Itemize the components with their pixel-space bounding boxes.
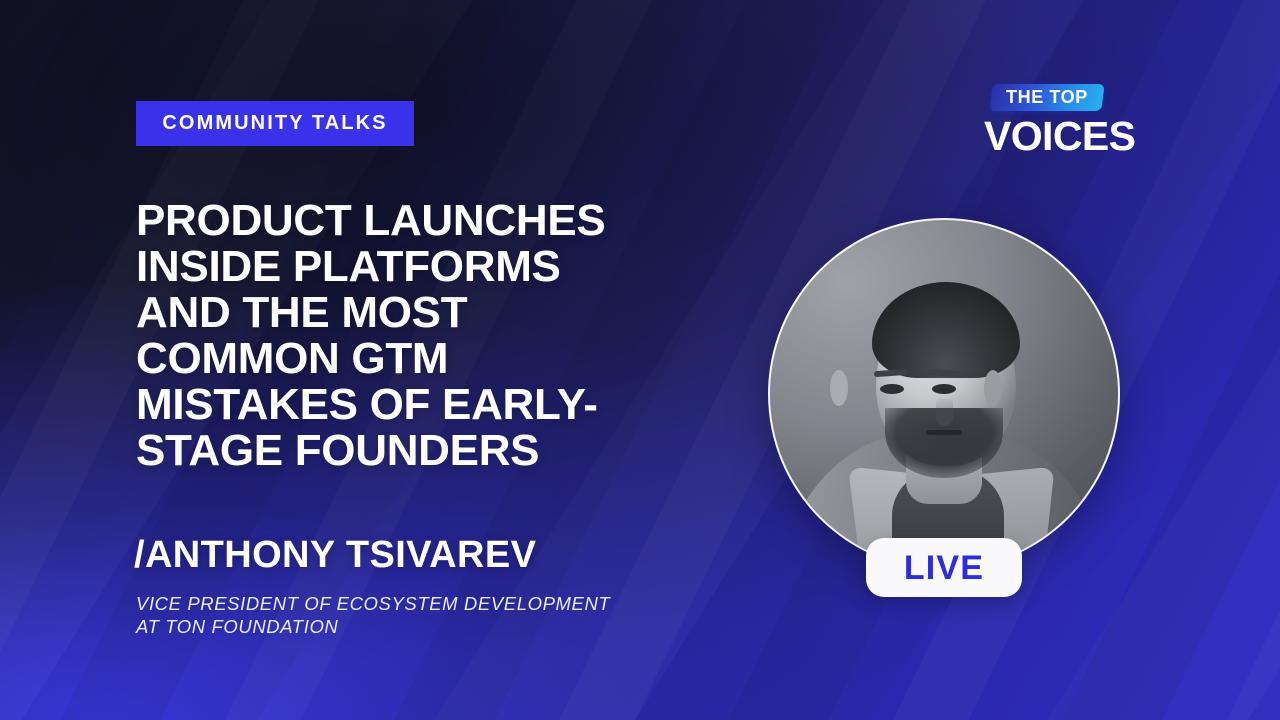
logo-top-label: THE TOP <box>1006 87 1088 108</box>
portrait-mouth <box>926 430 962 435</box>
portrait-eye-right <box>932 384 956 394</box>
portrait-ear-left <box>830 370 848 406</box>
portrait-ear-right <box>984 370 1002 406</box>
speaker-portrait <box>768 218 1120 570</box>
live-badge: LIVE <box>866 538 1022 597</box>
portrait-hair <box>872 282 1020 378</box>
speaker-role: VICE PRESIDENT OF ECOSYSTEM DEVELOPMENT … <box>136 592 756 638</box>
logo-voices-label: VOICES <box>984 115 1134 157</box>
presentation-slide: COMMUNITY TALKS PRODUCT LAUNCHES INSIDE … <box>0 0 1280 720</box>
speaker-portrait-container <box>768 218 1120 570</box>
logo-top-badge: THE TOP <box>989 84 1104 111</box>
community-talks-badge-label: COMMUNITY TALKS <box>162 112 387 135</box>
the-top-voices-logo: THE TOP VOICES <box>984 84 1134 157</box>
live-badge-label: LIVE <box>904 551 984 585</box>
speaker-name: /ANTHONY TSIVAREV <box>134 534 536 577</box>
community-talks-badge: COMMUNITY TALKS <box>136 101 414 146</box>
session-title: PRODUCT LAUNCHES INSIDE PLATFORMS AND TH… <box>136 198 756 474</box>
portrait-eye-left <box>880 384 904 394</box>
portrait-nose <box>936 396 953 426</box>
